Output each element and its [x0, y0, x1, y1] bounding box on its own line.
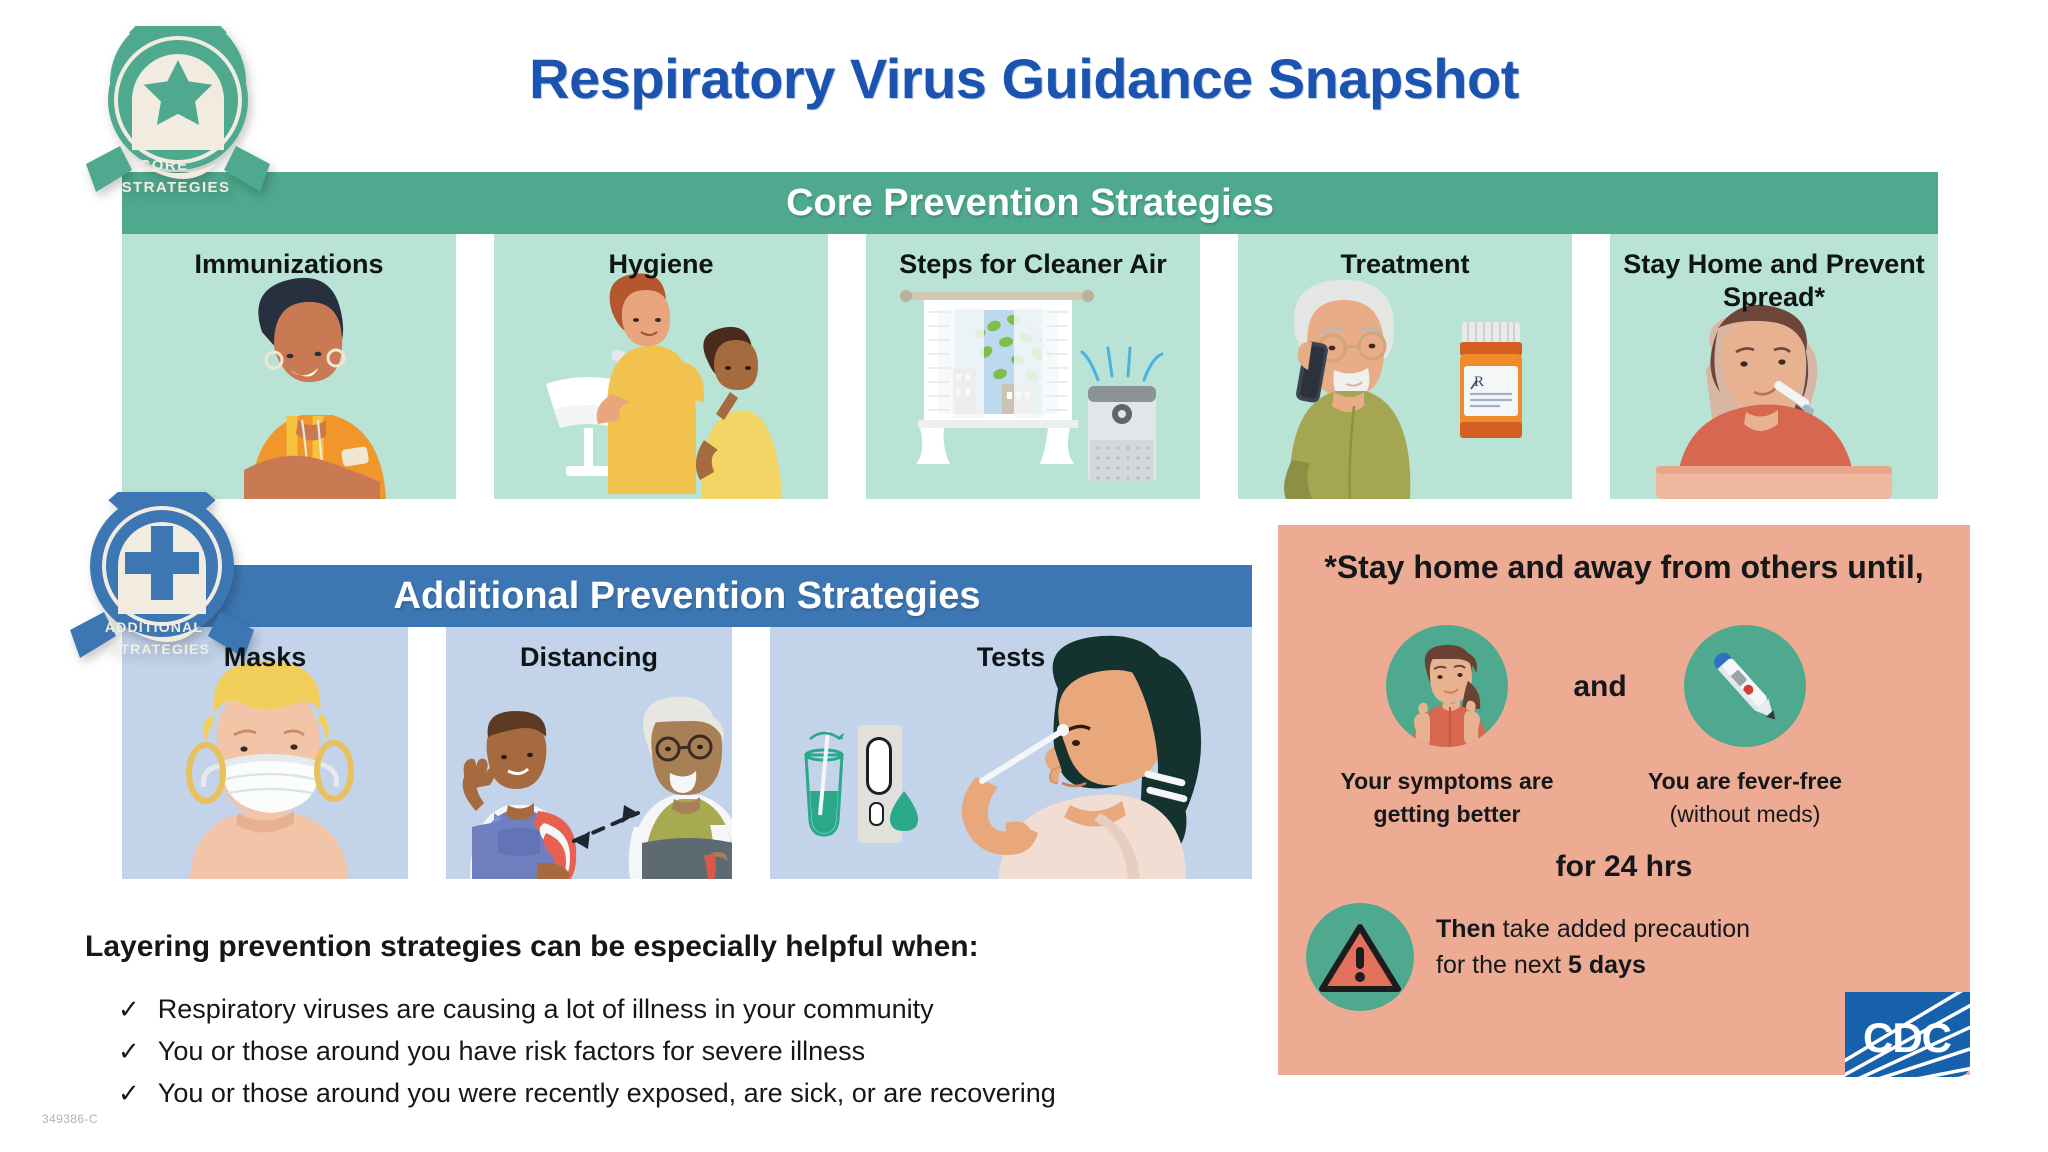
check-icon: ✓: [118, 1036, 140, 1067]
core-panel-cleaner-air: Steps for Cleaner Air: [866, 234, 1200, 499]
thumbs-up-woman-icon: [1386, 625, 1508, 747]
core-panel-label: Hygiene: [494, 248, 828, 281]
then-prefix: Then: [1436, 915, 1496, 943]
stay-home-heading: *Stay home and away from others until,: [1278, 549, 1970, 586]
duration-label: for 24 hrs: [1278, 850, 1970, 884]
check-icon: ✓: [118, 994, 140, 1025]
then-line2-pre: for the next: [1436, 951, 1568, 979]
additional-panel-masks: Masks: [122, 627, 408, 879]
additional-prevention-header: Additional Prevention Strategies: [122, 565, 1252, 627]
layering-item-text: You or those around you were recently ex…: [158, 1078, 1056, 1109]
layering-item-text: You or those around you have risk factor…: [158, 1036, 865, 1067]
additional-panel-label: Distancing: [446, 641, 732, 674]
core-strategies-badge: CORE STRATEGIES: [78, 26, 278, 226]
core-prevention-header: Core Prevention Strategies: [122, 172, 1938, 234]
page-title: Respiratory Virus Guidance Snapshot: [0, 46, 2048, 111]
check-icon: ✓: [118, 1078, 140, 1109]
svg-text:CDC: CDC: [1863, 1014, 1952, 1061]
core-panel-immunizations: Immunizations: [122, 234, 456, 499]
core-panel-hygiene: Hygiene: [494, 234, 828, 499]
publication-number: 349386-C: [42, 1112, 98, 1126]
fever-line2: (without meds): [1616, 798, 1874, 831]
then-precaution-text: Then take added precaution for the next …: [1436, 911, 1906, 984]
infographic-canvas: Respiratory Virus Guidance Snapshot Core…: [0, 0, 2048, 1152]
symptoms-line2: getting better: [1318, 798, 1576, 831]
core-panel-stay-home: Stay Home and Prevent Spread*: [1610, 234, 1938, 499]
core-panel-label: Stay Home and Prevent Spread*: [1610, 248, 1938, 314]
symptoms-condition-label: Your symptoms are getting better: [1318, 765, 1576, 830]
svg-text:CORE: CORE: [140, 157, 189, 174]
additional-panel-tests: Tests: [770, 627, 1252, 879]
core-panel-label: Treatment: [1238, 248, 1572, 281]
fever-condition-label: You are fever-free (without meds): [1616, 765, 1874, 830]
layering-item-text: Respiratory viruses are causing a lot of…: [158, 994, 934, 1025]
core-badge-line1: CORE: [140, 157, 189, 174]
then-line1-rest: take added precaution: [1496, 915, 1750, 943]
additional-panel-label: Masks: [122, 641, 408, 674]
svg-text:ADDITIONAL: ADDITIONAL: [105, 619, 203, 635]
svg-text:STRATEGIES: STRATEGIES: [122, 179, 231, 196]
additional-panel-label: Tests: [770, 641, 1252, 674]
core-badge-line2: STRATEGIES: [122, 179, 231, 196]
then-line2-bold: 5 days: [1568, 951, 1646, 979]
core-heading-label: Core Prevention Strategies: [786, 182, 1274, 225]
warning-triangle-icon: [1306, 903, 1414, 1011]
symptoms-line1: Your symptoms are: [1318, 765, 1576, 798]
additional-heading-label: Additional Prevention Strategies: [394, 575, 981, 618]
then-line2: for the next 5 days: [1436, 947, 1906, 983]
core-panel-treatment: Treatment: [1238, 234, 1572, 499]
layering-list-item: ✓ You or those around you have risk fact…: [118, 1036, 865, 1067]
core-panel-label: Immunizations: [122, 248, 456, 281]
layering-list-item: ✓ Respiratory viruses are causing a lot …: [118, 994, 934, 1025]
core-panel-label: Steps for Cleaner Air: [866, 248, 1200, 281]
additional-badge-line1: ADDITIONAL: [105, 619, 203, 635]
fever-line1: You are fever-free: [1616, 765, 1874, 798]
and-connector: and: [1546, 670, 1654, 704]
thermometer-icon: [1684, 625, 1806, 747]
then-line1: Then take added precaution: [1436, 911, 1906, 947]
layering-list-item: ✓ You or those around you were recently …: [118, 1078, 1056, 1109]
layering-heading: Layering prevention strategies can be es…: [85, 930, 979, 964]
additional-panel-distancing: Distancing: [446, 627, 732, 879]
cdc-logo: CDC: [1845, 992, 1970, 1077]
